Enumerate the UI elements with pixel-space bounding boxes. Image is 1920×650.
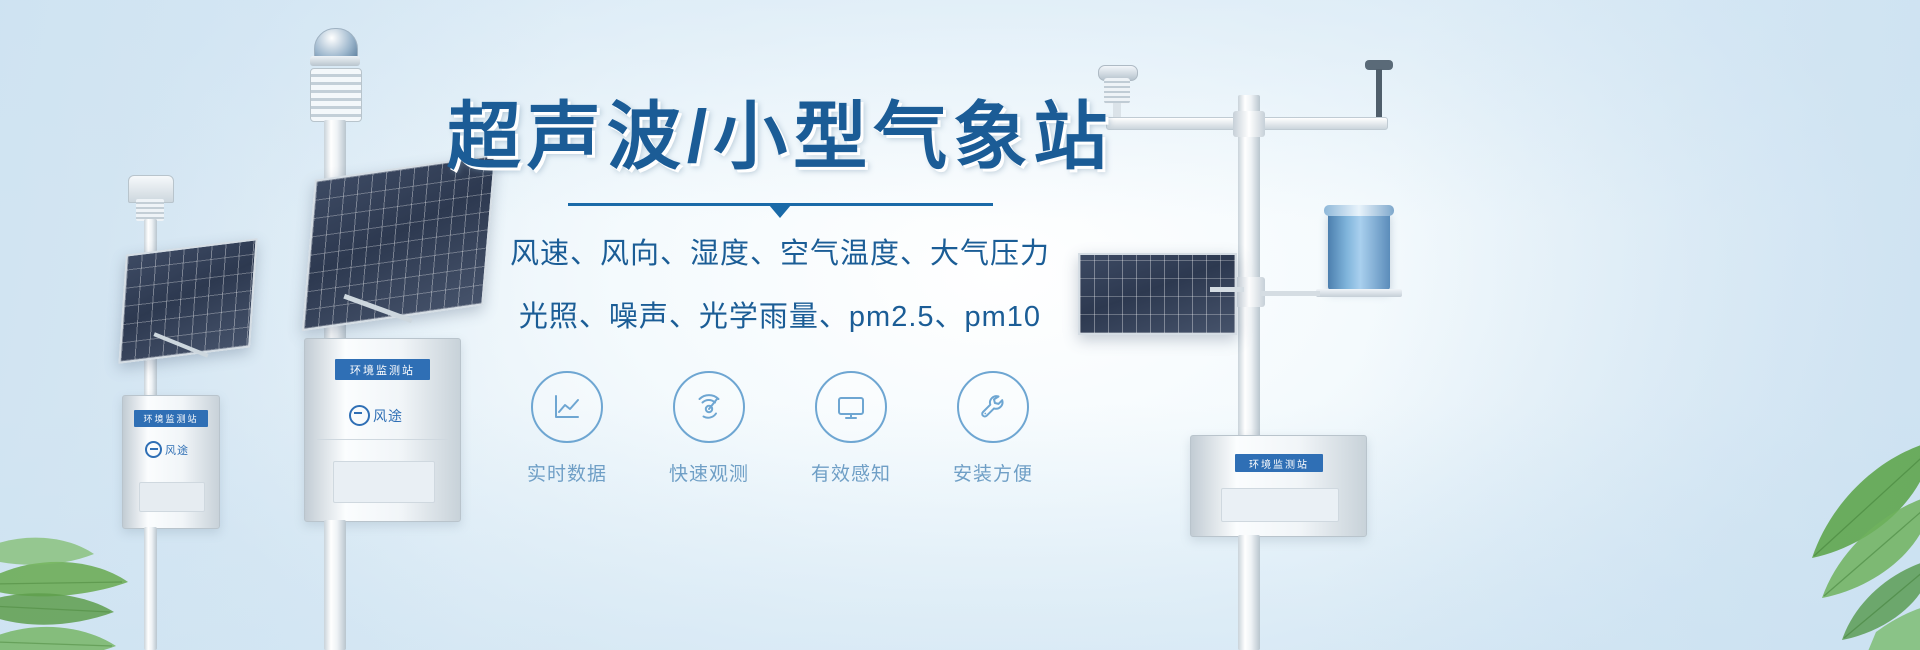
banner-text-content: 超声波/小型气象站 风速、风向、湿度、空气温度、大气压力 光照、噪声、光学雨量、… (440, 96, 1120, 486)
enclosure-label-text: 环境监测站 (1249, 456, 1309, 471)
feature-list: 实时数据 快速观测 (440, 371, 1120, 486)
brand-mark-icon (349, 405, 370, 426)
enclosure-label-text: 环境监测站 (143, 412, 198, 425)
enclosure-door-seam (317, 439, 448, 440)
brand-text: 风途 (373, 406, 403, 426)
feature-label: 有效感知 (802, 459, 900, 486)
enclosure-label-strip: 环境监测站 (134, 410, 208, 427)
lower-mast-pole (1238, 535, 1260, 650)
mast-collar-upper (1233, 111, 1265, 137)
subtitle-line-1: 风速、风向、湿度、空气温度、大气压力 (440, 231, 1120, 278)
divider-triangle-icon (769, 205, 791, 218)
product-banner: 环境监测站 风途 环境监测站 风途 (0, 0, 1920, 650)
enclosure-box: 环境监测站 (1190, 435, 1367, 537)
enclosure-vent (333, 461, 435, 503)
enclosure-label-text: 环境监测站 (350, 362, 415, 378)
title-divider (568, 203, 993, 215)
rain-gauge-rim (1324, 205, 1394, 216)
wind-vane-stem (1376, 69, 1382, 119)
enclosure-vent (1221, 488, 1339, 522)
feature-item-fast-observation[interactable]: 快速观测 (660, 371, 758, 486)
wrench-icon (957, 371, 1029, 443)
radiation-shield (310, 68, 362, 122)
rain-gauge (1328, 210, 1390, 290)
leaf-decoration-right (1680, 400, 1920, 650)
feature-item-effective-sensing[interactable]: 有效感知 (802, 371, 900, 486)
feature-label: 安装方便 (944, 459, 1042, 486)
feature-item-easy-installation[interactable]: 安装方便 (944, 371, 1042, 486)
enclosure-label-strip: 环境监测站 (1235, 454, 1323, 472)
subtitle-line-2: 光照、噪声、光学雨量、pm2.5、pm10 (440, 294, 1120, 341)
line-chart-icon (531, 371, 603, 443)
radar-signal-icon (673, 371, 745, 443)
lower-mast-pole (324, 520, 346, 650)
enclosure-box: 环境监测站 风途 (304, 338, 461, 522)
rain-gauge-support (1260, 291, 1320, 296)
dome-collar (310, 56, 360, 66)
solar-panel-bracket (1210, 287, 1244, 292)
sensor-stack-icon (136, 199, 164, 221)
feature-label: 实时数据 (518, 459, 616, 486)
leaf-decoration-left (0, 450, 220, 650)
feature-item-realtime-data[interactable]: 实时数据 (518, 371, 616, 486)
product-right-weather-station: 环境监测站 (1070, 55, 1430, 650)
feature-label: 快速观测 (660, 459, 758, 486)
page-title: 超声波/小型气象站 (440, 96, 1120, 177)
monitor-screen-icon (815, 371, 887, 443)
enclosure-label-strip: 环境监测站 (335, 359, 430, 380)
brand-logo: 风途 (349, 405, 403, 426)
rain-gauge-bracket (1316, 289, 1402, 297)
